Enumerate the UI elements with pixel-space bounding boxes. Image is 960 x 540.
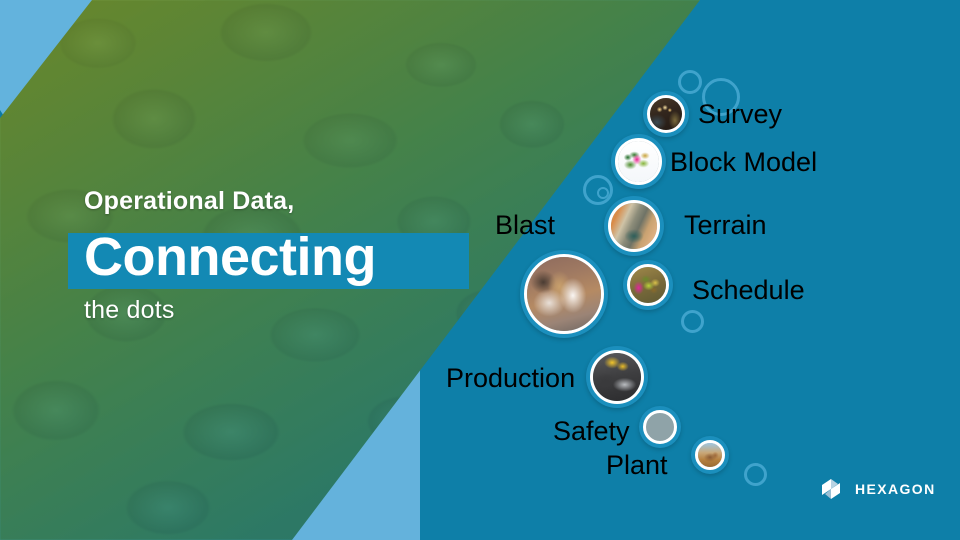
presentation-slide: Operational Data, Connecting the dots xyxy=(0,0,960,540)
node-label-blast: Blast xyxy=(495,212,555,239)
node-label-safety: Safety xyxy=(553,418,630,445)
bubble-ring xyxy=(695,440,725,470)
bubble-ring xyxy=(524,254,604,334)
decorative-ring-icon xyxy=(744,463,767,486)
bubble-ring xyxy=(647,95,685,133)
node-label-production: Production xyxy=(446,365,575,392)
node-bubble-blast[interactable] xyxy=(520,250,608,338)
title-line-the-dots: the dots xyxy=(84,296,175,325)
node-label-block-model: Block Model xyxy=(670,149,817,176)
node-label-terrain: Terrain xyxy=(684,212,767,239)
node-bubble-schedule[interactable] xyxy=(623,260,673,310)
decorative-ring-icon xyxy=(681,310,704,333)
production-photo xyxy=(593,353,641,401)
blast-photo xyxy=(527,257,601,331)
decorative-ring-icon xyxy=(678,70,702,94)
node-bubble-production[interactable] xyxy=(586,346,648,408)
node-label-survey: Survey xyxy=(698,101,782,128)
block-model-photo xyxy=(618,141,659,182)
node-bubble-block-model[interactable] xyxy=(611,134,666,189)
node-bubble-plant[interactable] xyxy=(691,436,729,474)
decorative-ring-icon xyxy=(597,187,609,199)
node-label-plant: Plant xyxy=(606,452,668,479)
bubble-ring xyxy=(608,200,660,252)
title-line-operational-data: Operational Data, xyxy=(84,188,470,216)
terrain-photo xyxy=(611,203,657,249)
node-bubble-terrain[interactable] xyxy=(604,196,664,256)
bubble-ring xyxy=(627,264,669,306)
node-bubble-survey[interactable] xyxy=(643,91,689,137)
hexagon-logo-text: HEXAGON xyxy=(855,481,936,497)
bubble-ring xyxy=(615,138,662,185)
bubble-ring xyxy=(590,350,644,404)
schedule-photo xyxy=(630,267,666,303)
hexagon-logo-icon xyxy=(820,476,846,502)
node-bubble-safety[interactable] xyxy=(639,406,681,448)
hexagon-brand-logo: HEXAGON xyxy=(820,476,936,502)
safety-photo xyxy=(646,413,674,441)
title-line-connecting: Connecting xyxy=(84,226,376,290)
bubble-ring xyxy=(643,410,677,444)
node-label-schedule: Schedule xyxy=(692,277,805,304)
survey-photo xyxy=(650,98,682,130)
plant-photo xyxy=(698,443,722,467)
title-block: Operational Data, Connecting the dots xyxy=(0,188,470,216)
